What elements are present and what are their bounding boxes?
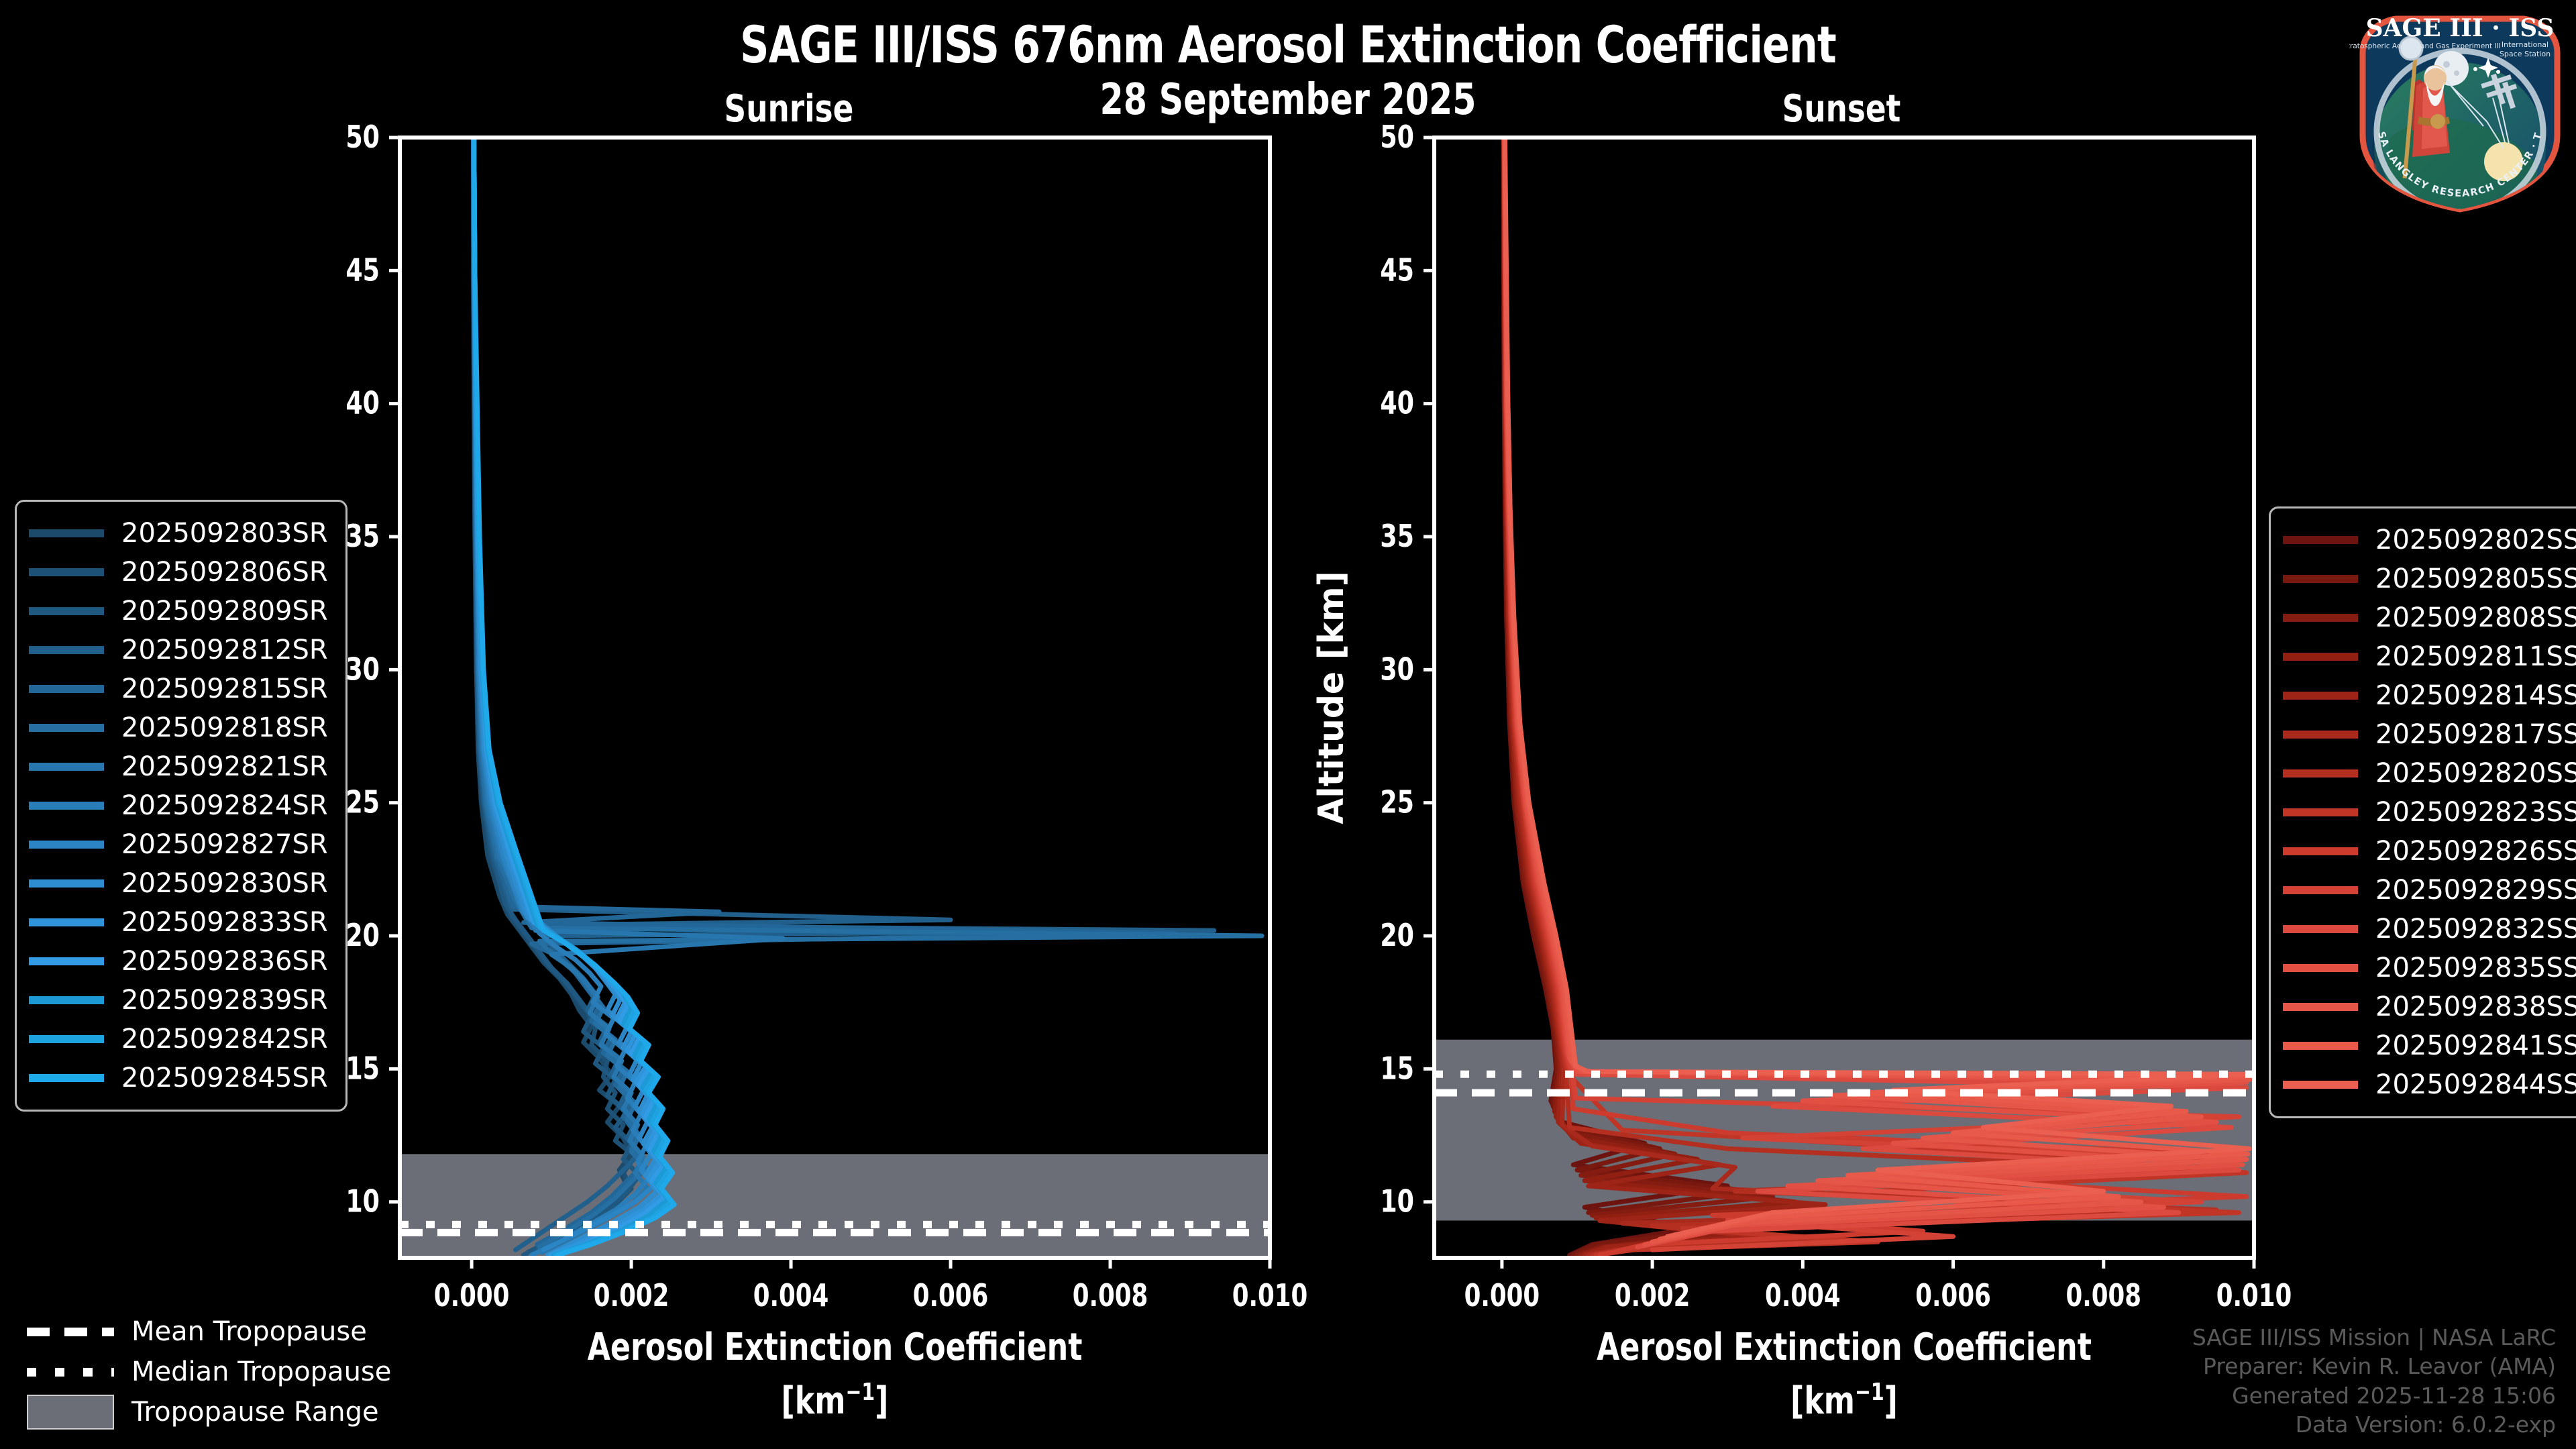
y-tick-label: 30 <box>1380 652 1414 688</box>
legend-row[interactable]: 2025092830SR <box>29 864 328 903</box>
mean-tropopause-dash-icon <box>27 1323 114 1340</box>
x-axis-label: Aerosol Extinction Coefficient <box>1597 1326 2092 1369</box>
legend-color-swatch <box>29 568 104 576</box>
legend-label: 2025092835SS <box>2375 953 2576 983</box>
x-tick-label: 0.000 <box>434 1278 510 1314</box>
legend-color-swatch <box>2283 1003 2358 1011</box>
legend-color-swatch <box>29 841 104 849</box>
legend-color-swatch <box>2283 575 2358 583</box>
legend-label: 2025092830SR <box>121 868 328 899</box>
legend-label: 2025092829SS <box>2375 875 2576 906</box>
legend-row[interactable]: 2025092821SR <box>29 747 328 786</box>
profile-line <box>474 138 665 1255</box>
y-tick-label: 35 <box>345 519 380 555</box>
profile-line <box>474 138 1263 1247</box>
x-tick-label: 0.010 <box>1232 1278 1308 1314</box>
legend-row[interactable]: 2025092824SR <box>29 786 328 825</box>
legend-label: 2025092808SS <box>2375 602 2576 633</box>
profile-line <box>474 138 1214 1250</box>
legend-row[interactable]: 2025092842SR <box>29 1020 328 1059</box>
x-tick-label: 0.010 <box>2216 1278 2292 1314</box>
legend-color-swatch <box>29 529 104 537</box>
profile-line <box>1505 138 2252 1236</box>
legend-label: 2025092815SR <box>121 674 328 704</box>
legend-label: 2025092821SR <box>121 751 328 782</box>
legend-color-swatch <box>29 957 104 965</box>
legend-row[interactable]: 2025092802SS <box>2283 521 2576 559</box>
legend-color-swatch <box>2283 731 2358 739</box>
credit-line-generated: Generated 2025-11-28 15:06 <box>2192 1381 2556 1411</box>
legend-label: 2025092802SS <box>2375 525 2576 555</box>
legend-label: 2025092806SR <box>121 557 328 588</box>
credits-block: SAGE III/ISS Mission | NASA LaRC Prepare… <box>2192 1323 2556 1440</box>
legend-color-swatch <box>29 685 104 693</box>
legend-color-swatch <box>2283 653 2358 661</box>
profile-line <box>474 138 654 1250</box>
y-tick-label: 15 <box>345 1051 380 1087</box>
legend-row[interactable]: 2025092806SR <box>29 553 328 592</box>
legend-row[interactable]: 2025092836SR <box>29 942 328 981</box>
legend-color-swatch <box>2283 1042 2358 1050</box>
legend-label: 2025092844SS <box>2375 1069 2576 1100</box>
x-tick-label: 0.008 <box>2066 1278 2142 1314</box>
legend-row[interactable]: 2025092811SS <box>2283 637 2576 676</box>
legend-label: 2025092832SS <box>2375 914 2576 945</box>
x-tick-label: 0.008 <box>1073 1278 1148 1314</box>
legend-sunrise[interactable]: 2025092803SR2025092806SR2025092809SR2025… <box>15 500 347 1112</box>
legend-color-swatch <box>2283 769 2358 777</box>
x-tick-label: 0.004 <box>753 1278 829 1314</box>
legend-label: 2025092841SS <box>2375 1030 2576 1061</box>
panel-sunset: 1015202530354045500.0000.0020.0040.0060.… <box>1311 120 2292 1423</box>
tropopause-range-swatch-icon <box>27 1403 114 1421</box>
x-tick-label: 0.006 <box>1915 1278 1991 1314</box>
legend-row[interactable]: 2025092815SR <box>29 669 328 708</box>
legend-row-tropopause-range: Tropopause Range <box>27 1392 391 1432</box>
legend-color-swatch <box>2283 1081 2358 1089</box>
legend-label: 2025092823SS <box>2375 797 2576 828</box>
x-axis-label: Aerosol Extinction Coefficient <box>588 1326 1083 1369</box>
x-axis-units: [km−1] <box>1790 1377 1898 1422</box>
legend-sunset[interactable]: 2025092802SS2025092805SS2025092808SS2025… <box>2269 506 2576 1118</box>
y-tick-label: 30 <box>345 652 380 688</box>
logo-title: SAGE III · ISS <box>2366 14 2555 42</box>
profile-line <box>474 138 1175 1244</box>
legend-color-swatch <box>29 879 104 888</box>
y-tick-label: 25 <box>1380 785 1414 820</box>
legend-color-swatch <box>29 646 104 654</box>
x-tick-label: 0.004 <box>1765 1278 1841 1314</box>
legend-label: 2025092812SR <box>121 635 328 665</box>
sunrise-plot: 1015202530354045500.0000.0020.0040.0060.… <box>0 0 2576 1449</box>
legend-label: 2025092833SR <box>121 907 328 938</box>
legend-row[interactable]: 2025092832SS <box>2283 910 2576 949</box>
legend-color-swatch <box>29 1035 104 1043</box>
profile-line <box>474 138 784 1252</box>
y-tick-label: 35 <box>1380 519 1414 555</box>
legend-label: 2025092818SR <box>121 712 328 743</box>
legend-row[interactable]: 2025092839SR <box>29 981 328 1020</box>
legend-tropopause: Mean Tropopause Median Tropopause Tropop… <box>27 1311 391 1432</box>
profile-line <box>474 138 640 1255</box>
legend-label: 2025092839SR <box>121 985 328 1016</box>
x-tick-label: 0.000 <box>1464 1278 1540 1314</box>
credit-line-data-version: Data Version: 6.0.2-exp <box>2192 1410 2556 1440</box>
y-tick-label: 20 <box>1380 918 1414 954</box>
legend-row[interactable]: 2025092844SS <box>2283 1065 2576 1104</box>
legend-row[interactable]: 2025092823SS <box>2283 793 2576 832</box>
legend-color-swatch <box>29 763 104 771</box>
legend-color-swatch <box>29 724 104 732</box>
legend-color-swatch <box>2283 692 2358 700</box>
x-tick-label: 0.006 <box>913 1278 989 1314</box>
legend-row[interactable]: 2025092818SR <box>29 708 328 747</box>
logo-subtitle-left: Stratospheric Aerosol and Gas Experiment… <box>2349 42 2501 50</box>
legend-label: 2025092817SS <box>2375 719 2576 750</box>
legend-label: 2025092838SS <box>2375 991 2576 1022</box>
legend-row[interactable]: 2025092805SS <box>2283 559 2576 598</box>
y-axis-label: Altitude [km] <box>1311 571 1351 824</box>
legend-color-swatch <box>29 1074 104 1082</box>
legend-label: 2025092820SS <box>2375 758 2576 789</box>
credit-line-mission: SAGE III/ISS Mission | NASA LaRC <box>2192 1323 2556 1352</box>
legend-row[interactable]: 2025092809SR <box>29 592 328 631</box>
x-axis-units: [km−1] <box>782 1377 889 1422</box>
y-tick-label: 45 <box>1380 253 1414 288</box>
legend-label-tropopause-range: Tropopause Range <box>131 1397 379 1428</box>
legend-label: 2025092811SS <box>2375 641 2576 672</box>
y-tick-label: 15 <box>1380 1051 1414 1087</box>
legend-label: 2025092805SS <box>2375 563 2576 594</box>
legend-row[interactable]: 2025092835SS <box>2283 949 2576 987</box>
legend-color-swatch <box>2283 886 2358 894</box>
legend-color-swatch <box>29 918 104 926</box>
y-tick-label: 50 <box>345 120 380 156</box>
legend-color-swatch <box>2283 847 2358 855</box>
legend-color-swatch <box>29 607 104 615</box>
legend-color-swatch <box>29 802 104 810</box>
legend-color-swatch <box>29 996 104 1004</box>
y-tick-label: 50 <box>1380 120 1414 156</box>
legend-row[interactable]: 2025092833SR <box>29 903 328 942</box>
legend-label: 2025092809SR <box>121 596 328 627</box>
legend-color-swatch <box>2283 614 2358 622</box>
legend-row[interactable]: 2025092829SS <box>2283 871 2576 910</box>
legend-row[interactable]: 2025092845SR <box>29 1059 328 1097</box>
y-tick-label: 45 <box>345 253 380 288</box>
legend-label-median-tropopause: Median Tropopause <box>131 1356 391 1387</box>
legend-row[interactable]: 2025092820SS <box>2283 754 2576 793</box>
y-tick-label: 25 <box>345 785 380 820</box>
legend-row-mean-tropopause: Mean Tropopause <box>27 1311 391 1352</box>
legend-row[interactable]: 2025092812SR <box>29 631 328 669</box>
y-tick-label: 20 <box>345 918 380 954</box>
profile-line <box>474 138 657 1255</box>
legend-color-swatch <box>2283 925 2358 933</box>
legend-row[interactable]: 2025092803SR <box>29 514 328 553</box>
legend-label: 2025092842SR <box>121 1024 328 1055</box>
legend-label-mean-tropopause: Mean Tropopause <box>131 1316 367 1347</box>
legend-color-swatch <box>2283 964 2358 972</box>
panel-sunrise: 1015202530354045500.0000.0020.0040.0060.… <box>276 120 1307 1423</box>
legend-row[interactable]: 2025092826SS <box>2283 832 2576 871</box>
logo-subtitle-right-1: International <box>2502 40 2548 49</box>
y-tick-label: 40 <box>345 386 380 421</box>
legend-label: 2025092824SR <box>121 790 328 821</box>
logo-subtitle-right-2: Space Station <box>2500 50 2551 58</box>
legend-row[interactable]: 2025092817SS <box>2283 715 2576 754</box>
legend-color-swatch <box>2283 808 2358 816</box>
sage-iii-iss-mission-patch-logo: SAGE III · ISS Stratospheric Aerosol and… <box>2349 4 2571 217</box>
legend-label: 2025092826SS <box>2375 836 2576 867</box>
legend-label: 2025092827SR <box>121 829 328 860</box>
x-tick-label: 0.002 <box>1615 1278 1690 1314</box>
legend-color-swatch <box>2283 536 2358 544</box>
legend-label: 2025092836SR <box>121 946 328 977</box>
legend-row[interactable]: 2025092827SR <box>29 825 328 864</box>
credit-line-preparer: Preparer: Kevin R. Leavor (AMA) <box>2192 1352 2556 1381</box>
x-tick-label: 0.002 <box>594 1278 669 1314</box>
legend-row[interactable]: 2025092838SS <box>2283 987 2576 1026</box>
legend-label: 2025092845SR <box>121 1063 328 1093</box>
legend-label: 2025092803SR <box>121 518 328 549</box>
y-tick-label: 40 <box>1380 386 1414 421</box>
legend-row[interactable]: 2025092808SS <box>2283 598 2576 637</box>
y-tick-label: 10 <box>1380 1184 1414 1220</box>
legend-label: 2025092814SS <box>2375 680 2576 711</box>
median-tropopause-dot-icon <box>27 1363 114 1381</box>
legend-row-median-tropopause: Median Tropopause <box>27 1352 391 1392</box>
legend-row[interactable]: 2025092841SS <box>2283 1026 2576 1065</box>
y-tick-label: 10 <box>345 1184 380 1220</box>
axes-frame <box>400 138 1270 1258</box>
legend-row[interactable]: 2025092814SS <box>2283 676 2576 715</box>
